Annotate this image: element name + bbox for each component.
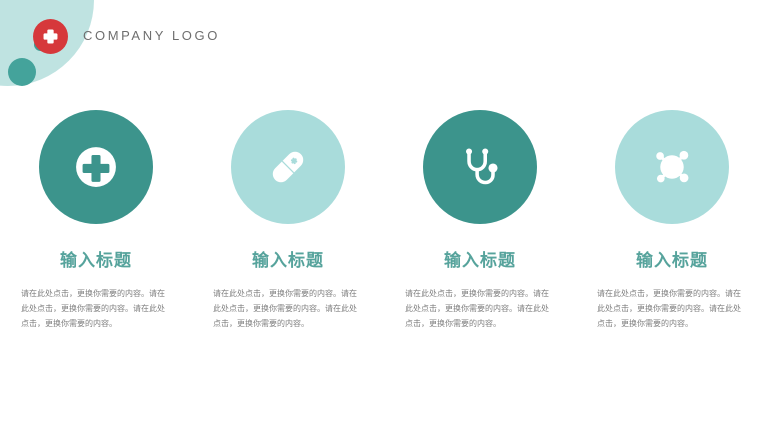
- feature-title-3: 输入标题: [444, 253, 516, 270]
- stethoscope-icon[interactable]: [423, 110, 537, 224]
- molecule-atom-icon[interactable]: [615, 110, 729, 224]
- feature-columns: 输入标题 请在此处点击，更换你需要的内容。请在此处点击，更换你需要的内容。请在此…: [0, 110, 768, 331]
- feature-body-2: 请在此处点击，更换你需要的内容。请在此处点击，更换你需要的内容。请在此处点击，更…: [213, 287, 363, 331]
- feature-column-4: 输入标题 请在此处点击，更换你需要的内容。请在此处点击，更换你需要的内容。请在此…: [576, 110, 768, 331]
- feature-body-3: 请在此处点击，更换你需要的内容。请在此处点击，更换你需要的内容。请在此处点击，更…: [405, 287, 555, 331]
- feature-title-2: 输入标题: [252, 253, 324, 270]
- feature-column-2: 输入标题 请在此处点击，更换你需要的内容。请在此处点击，更换你需要的内容。请在此…: [192, 110, 384, 331]
- company-logo-text: COMPANY LOGO: [83, 28, 220, 43]
- medical-cross-icon[interactable]: [39, 110, 153, 224]
- decorative-dot-large: [8, 58, 36, 86]
- slide-canvas: COMPANY LOGO 输入标题 请在此处点击，更换你需要的内容。请在此处点击…: [0, 0, 768, 432]
- feature-title-4: 输入标题: [636, 253, 708, 270]
- feature-column-3: 输入标题 请在此处点击，更换你需要的内容。请在此处点击，更换你需要的内容。请在此…: [384, 110, 576, 331]
- feature-body-1: 请在此处点击，更换你需要的内容。请在此处点击，更换你需要的内容。请在此处点击，更…: [21, 287, 171, 331]
- medical-cross-badge-icon: [33, 19, 68, 54]
- feature-column-1: 输入标题 请在此处点击，更换你需要的内容。请在此处点击，更换你需要的内容。请在此…: [0, 110, 192, 331]
- feature-body-4: 请在此处点击，更换你需要的内容。请在此处点击，更换你需要的内容。请在此处点击，更…: [597, 287, 747, 331]
- pill-capsule-icon[interactable]: [231, 110, 345, 224]
- feature-title-1: 输入标题: [60, 253, 132, 270]
